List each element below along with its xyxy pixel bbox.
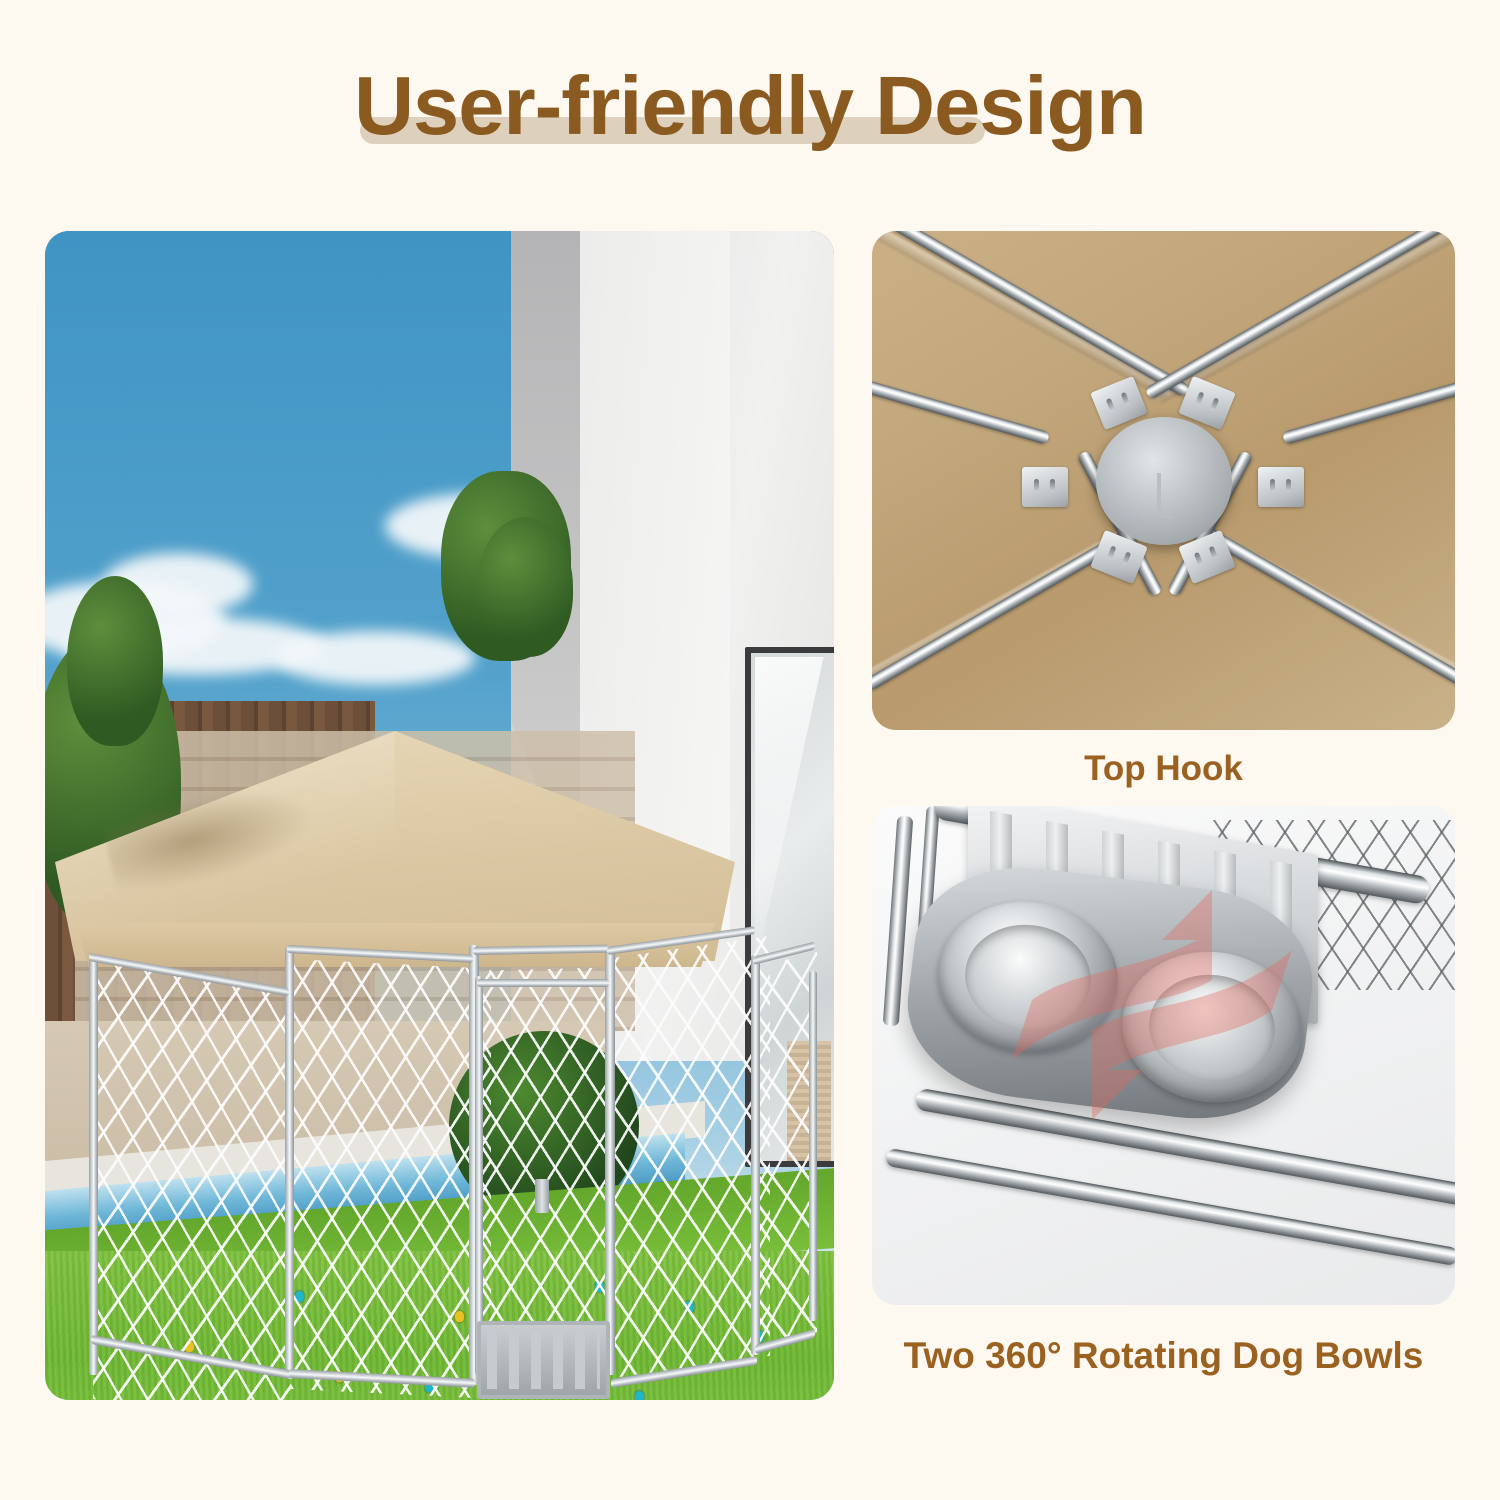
roof-pole	[872, 380, 1050, 445]
gate-hinge-post	[475, 976, 483, 1376]
page-title: User-friendly Design	[0, 46, 1500, 166]
dog-kennel	[45, 231, 834, 1400]
gate-latch[interactable]	[535, 1179, 549, 1213]
chain-link-panel	[93, 959, 291, 1400]
gate-top-bar	[477, 979, 609, 987]
roof-pole	[1282, 380, 1455, 445]
door-slats	[487, 1331, 600, 1389]
page-title-text: User-friendly Design	[354, 62, 1146, 149]
dog-bowls-photo	[872, 806, 1455, 1305]
hub-bracket	[1022, 467, 1068, 507]
chain-link-panel	[291, 959, 491, 1399]
dog-bowls-caption: Two 360° Rotating Dog Bowls	[872, 1325, 1455, 1387]
rotation-arrow-icon	[912, 850, 1352, 1150]
canopy-seam	[872, 231, 1173, 400]
main-kennel-photo	[45, 231, 834, 1400]
corner-post	[751, 955, 760, 1355]
corner-post	[285, 947, 294, 1379]
hub-bracket	[1258, 467, 1304, 507]
gate-frame[interactable]	[473, 976, 613, 1374]
top-hook-photo	[872, 231, 1455, 730]
infographic-page: User-friendly Design	[0, 0, 1500, 1500]
chain-link-panel	[605, 936, 770, 1379]
corner-post	[809, 971, 817, 1321]
chain-link-panel	[757, 952, 817, 1347]
hub-plate	[1096, 417, 1232, 545]
bottom-rail	[885, 1148, 1455, 1266]
small-access-door[interactable]	[477, 1321, 610, 1399]
top-hook-icon	[1157, 473, 1171, 519]
top-hook-caption: Top Hook	[872, 740, 1455, 798]
corner-post	[89, 955, 98, 1375]
